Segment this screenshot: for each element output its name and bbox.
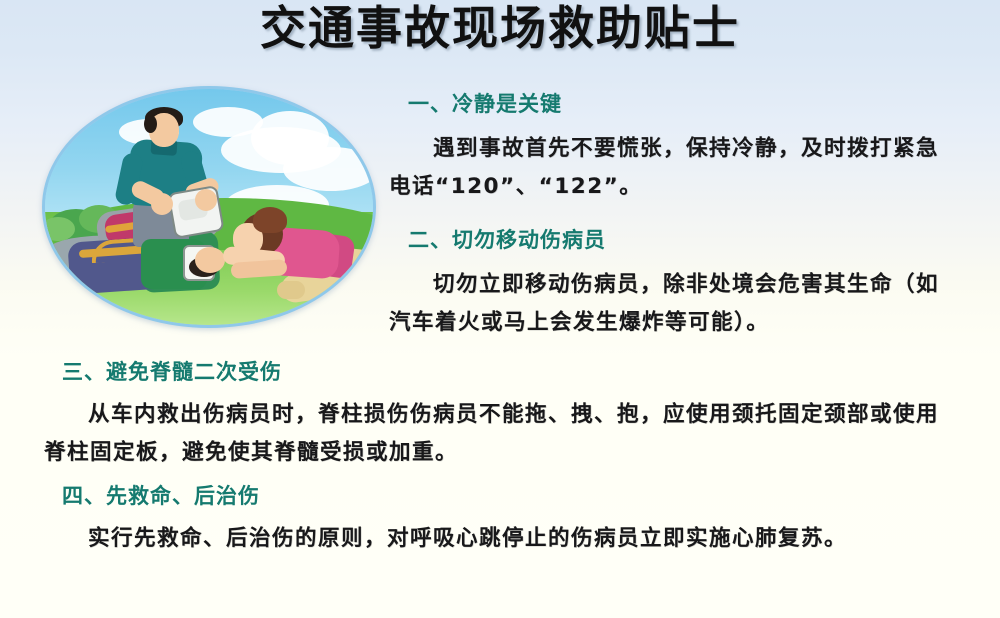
cloud-shape: [283, 147, 376, 191]
woman-foot: [277, 281, 305, 299]
cloud-shape: [193, 107, 263, 137]
section-body-2: 切勿立即移动伤病员，除非处境会危害其生命（如汽车着火或马上会发生爆炸等可能）。: [389, 266, 945, 342]
man-left-hand: [151, 193, 173, 215]
section-body-3: 从车内救出伤病员时，脊柱损伤伤病员不能拖、拽、抱，应使用颈托固定颈部或使用脊柱固…: [44, 396, 950, 472]
bush-shape: [42, 217, 75, 241]
victim-head: [195, 247, 225, 273]
section-heading-2: 二、切勿移动伤病员: [408, 228, 606, 252]
section-body-1: 遇到事故首先不要慌张，保持冷静，及时拨打紧急电话“120”、“122”。: [389, 130, 945, 206]
man-hair-side: [144, 115, 157, 133]
section-heading-3: 三、避免脊髓二次受伤: [62, 360, 282, 384]
poster-canvas: 交通事故现场救助贴士: [0, 0, 1000, 618]
section-heading-1: 一、冷静是关键: [408, 92, 562, 116]
section-heading-4: 四、先救命、后治伤: [62, 484, 260, 508]
first-aid-illustration: [42, 86, 376, 328]
man-right-hand: [195, 189, 217, 211]
woman-hair-top: [253, 207, 287, 233]
section-body-4: 实行先救命、后治伤的原则，对呼吸心跳停止的伤病员立即实施心肺复苏。: [44, 520, 950, 558]
page-title: 交通事故现场救助贴士: [0, 2, 1000, 54]
